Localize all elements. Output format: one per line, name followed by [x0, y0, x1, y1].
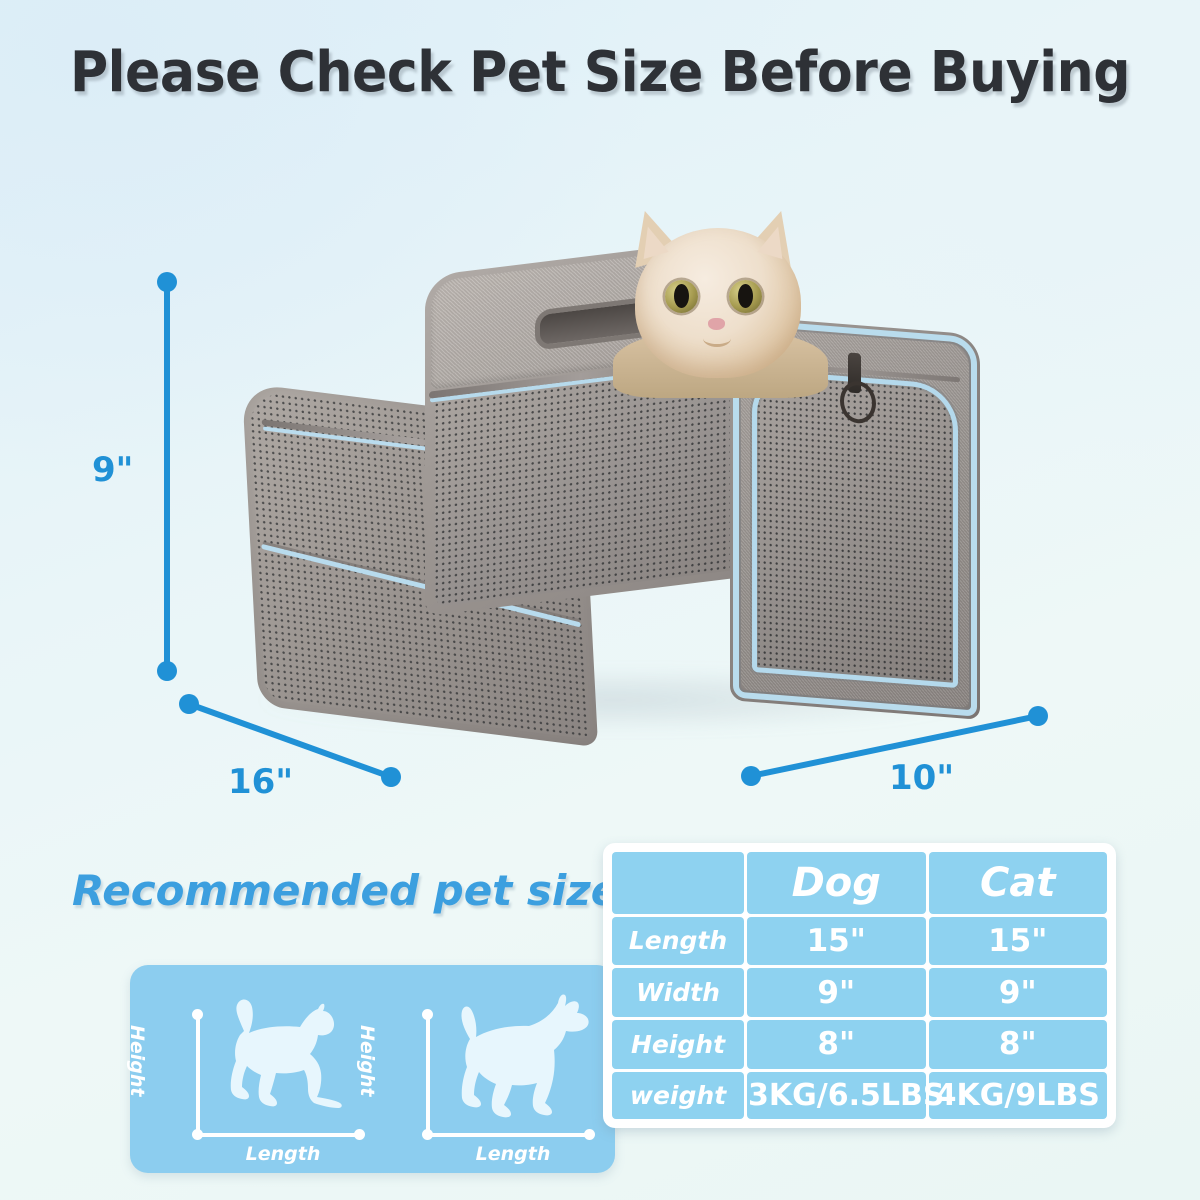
row-label-length: Length	[612, 917, 744, 966]
height-axis	[426, 1013, 430, 1135]
cat-height-label: Height	[126, 1025, 148, 1097]
size-table: Dog Cat Length 15" 15" Width 9" 9" Heigh…	[603, 843, 1116, 1128]
table-row: Height 8" 8"	[612, 1020, 1107, 1069]
row-label-height: Height	[612, 1020, 744, 1069]
cell-weight-cat: 4KG/9LBS	[929, 1072, 1108, 1119]
cat-silhouette-icon	[204, 987, 364, 1137]
table-header-row: Dog Cat	[612, 852, 1107, 914]
cell-weight-dog: 3KG/6.5LBS	[747, 1072, 925, 1119]
dimension-label-depth: 16"	[228, 762, 293, 802]
cell-length-dog: 15"	[747, 917, 925, 966]
height-axis	[196, 1013, 200, 1135]
cell-height-cat: 8"	[929, 1020, 1108, 1069]
infographic-page: Please Check Pet Size Before Buying	[0, 0, 1200, 1200]
recommended-pet-size-panel: Height Length Height Length	[130, 965, 615, 1173]
table-header-dog: Dog	[747, 852, 925, 914]
row-label-width: Width	[612, 968, 744, 1017]
cell-length-cat: 15"	[929, 917, 1108, 966]
dimension-label-width: 10"	[889, 758, 954, 798]
table-corner-cell	[612, 852, 744, 914]
cat-length-label: Length	[208, 1143, 358, 1165]
axis-endpoint-dot	[192, 1129, 203, 1140]
pet-figure-dog: Height Length	[368, 965, 608, 1173]
pet-figure-cat: Height Length	[138, 965, 378, 1173]
dog-length-label: Length	[438, 1143, 588, 1165]
dimension-label-height: 9"	[92, 450, 133, 490]
dog-silhouette-icon	[434, 987, 599, 1137]
table-row: Width 9" 9"	[612, 968, 1107, 1017]
axis-endpoint-dot	[192, 1009, 203, 1020]
row-label-weight: weight	[612, 1072, 744, 1119]
axis-endpoint-dot	[422, 1009, 433, 1020]
dimension-line-height	[157, 272, 177, 681]
axis-endpoint-dot	[422, 1129, 433, 1140]
table-row: Length 15" 15"	[612, 917, 1107, 966]
cell-width-dog: 9"	[747, 968, 925, 1017]
cell-width-cat: 9"	[929, 968, 1108, 1017]
table-header-cat: Cat	[929, 852, 1108, 914]
dog-height-label: Height	[356, 1025, 378, 1097]
recommended-size-heading: Recommended pet size	[72, 866, 619, 915]
cell-height-dog: 8"	[747, 1020, 925, 1069]
table-row: weight 3KG/6.5LBS 4KG/9LBS	[612, 1072, 1107, 1119]
